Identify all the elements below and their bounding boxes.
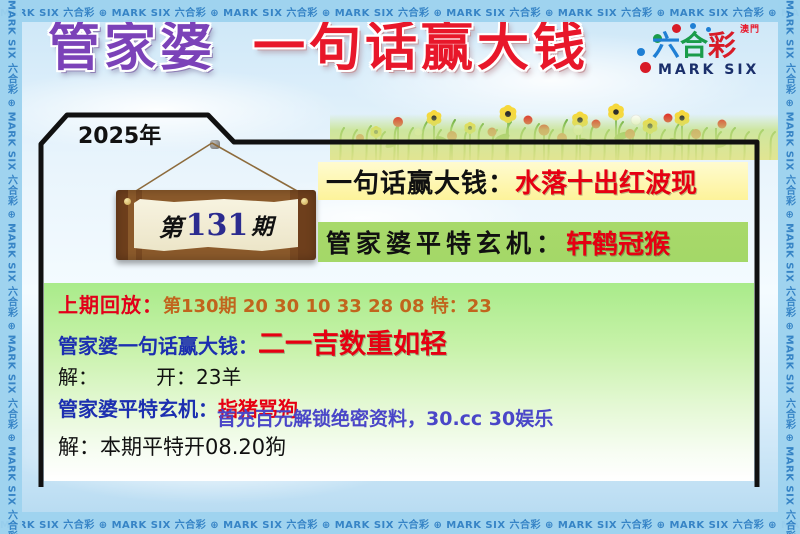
phrase-label: 管家婆一句话赢大钱： (58, 334, 258, 358)
issue-number: 131 (183, 208, 252, 243)
row-answer-1: 解：开：23羊 (58, 361, 241, 390)
row-replay: 上期回放：第130期 20 30 10 33 28 08 特：23 (58, 289, 492, 318)
issue-number-text: 第131期 (134, 199, 298, 251)
logo-char-2: 合 (680, 29, 708, 62)
banner-formula: 管家婆平特玄机： 轩鹤冠猴 (318, 222, 748, 262)
border-pattern-left: MARK SIX 六合彩 ⊕ MARK SIX 六合彩 ⊕ MARK SIX 六… (0, 0, 22, 534)
page-title-slogan: 一句话赢大钱 (253, 22, 589, 74)
border-top-text: MARK SIX 六合彩 ⊕ MARK SIX 六合彩 ⊕ MARK SIX 六… (0, 4, 800, 19)
border-pattern-bottom: MARK SIX 六合彩 ⊕ MARK SIX 六合彩 ⊕ MARK SIX 六… (0, 512, 800, 534)
banner-phrase-label: 一句话赢大钱： (326, 163, 515, 200)
page-title-brand: 管家婆 (48, 22, 216, 74)
banner-formula-label: 管家婆平特玄机： (326, 224, 566, 260)
poster-root: 管家婆 一句话赢大钱 澳門 六合彩 MARK SIX 2025年 第131期 (0, 0, 800, 534)
logo-name-cn: 六合彩 (652, 32, 736, 60)
issue-suffix: 期 (251, 209, 273, 241)
sign-board: 第131期 (116, 190, 316, 260)
border-pattern-top: MARK SIX 六合彩 ⊕ MARK SIX 六合彩 ⊕ MARK SIX 六… (0, 0, 800, 22)
content-panel: 上期回放：第130期 20 30 10 33 28 08 特：23 管家婆一句话… (44, 283, 754, 481)
border-pattern-right: MARK SIX 六合彩 ⊕ MARK SIX 六合彩 ⊕ MARK SIX 六… (778, 0, 800, 534)
answer1-label: 解： (58, 365, 98, 389)
issue-prefix: 第 (159, 208, 183, 243)
border-left-text: MARK SIX 六合彩 ⊕ MARK SIX 六合彩 ⊕ MARK SIX 六… (4, 0, 19, 534)
promo-watermark: 首充百元解锁绝密资料，30.cc 30娱乐 (217, 404, 553, 431)
banner-phrase-value: 水落十出红波现 (515, 163, 697, 200)
answer1-value: 开：23羊 (156, 365, 241, 389)
formula-label: 管家婆平特玄机： (58, 397, 218, 421)
border-bottom-text: MARK SIX 六合彩 ⊕ MARK SIX 六合彩 ⊕ MARK SIX 六… (0, 516, 800, 531)
border-right-text: MARK SIX 六合彩 ⊕ MARK SIX 六合彩 ⊕ MARK SIX 六… (782, 0, 797, 534)
logo-char-3: 彩 (708, 29, 736, 62)
sign-paper: 第131期 (134, 199, 298, 251)
row-phrase: 管家婆一句话赢大钱：二一吉数重如轻 (58, 322, 447, 361)
replay-value: 第130期 20 30 10 33 28 08 特：23 (163, 296, 492, 317)
issue-sign: 第131期 (100, 140, 350, 270)
flower-grass-decoration (330, 88, 778, 160)
row-answer-2: 解：本期平特开08.20狗 (58, 431, 286, 461)
banner-formula-value: 轩鹤冠猴 (566, 224, 670, 261)
logo-dot-red-2 (640, 62, 651, 73)
logo-region-label: 澳門 (740, 22, 760, 35)
logo-char-1: 六 (652, 29, 680, 62)
logo-dot-blue-3 (637, 48, 645, 56)
logo-name-en: MARK SIX (658, 62, 759, 78)
mark-six-logo: 澳門 六合彩 MARK SIX (624, 22, 764, 84)
banner-phrase: 一句话赢大钱： 水落十出红波现 (318, 162, 748, 200)
replay-label: 上期回放： (58, 293, 163, 317)
phrase-value: 二一吉数重如轻 (258, 329, 447, 360)
